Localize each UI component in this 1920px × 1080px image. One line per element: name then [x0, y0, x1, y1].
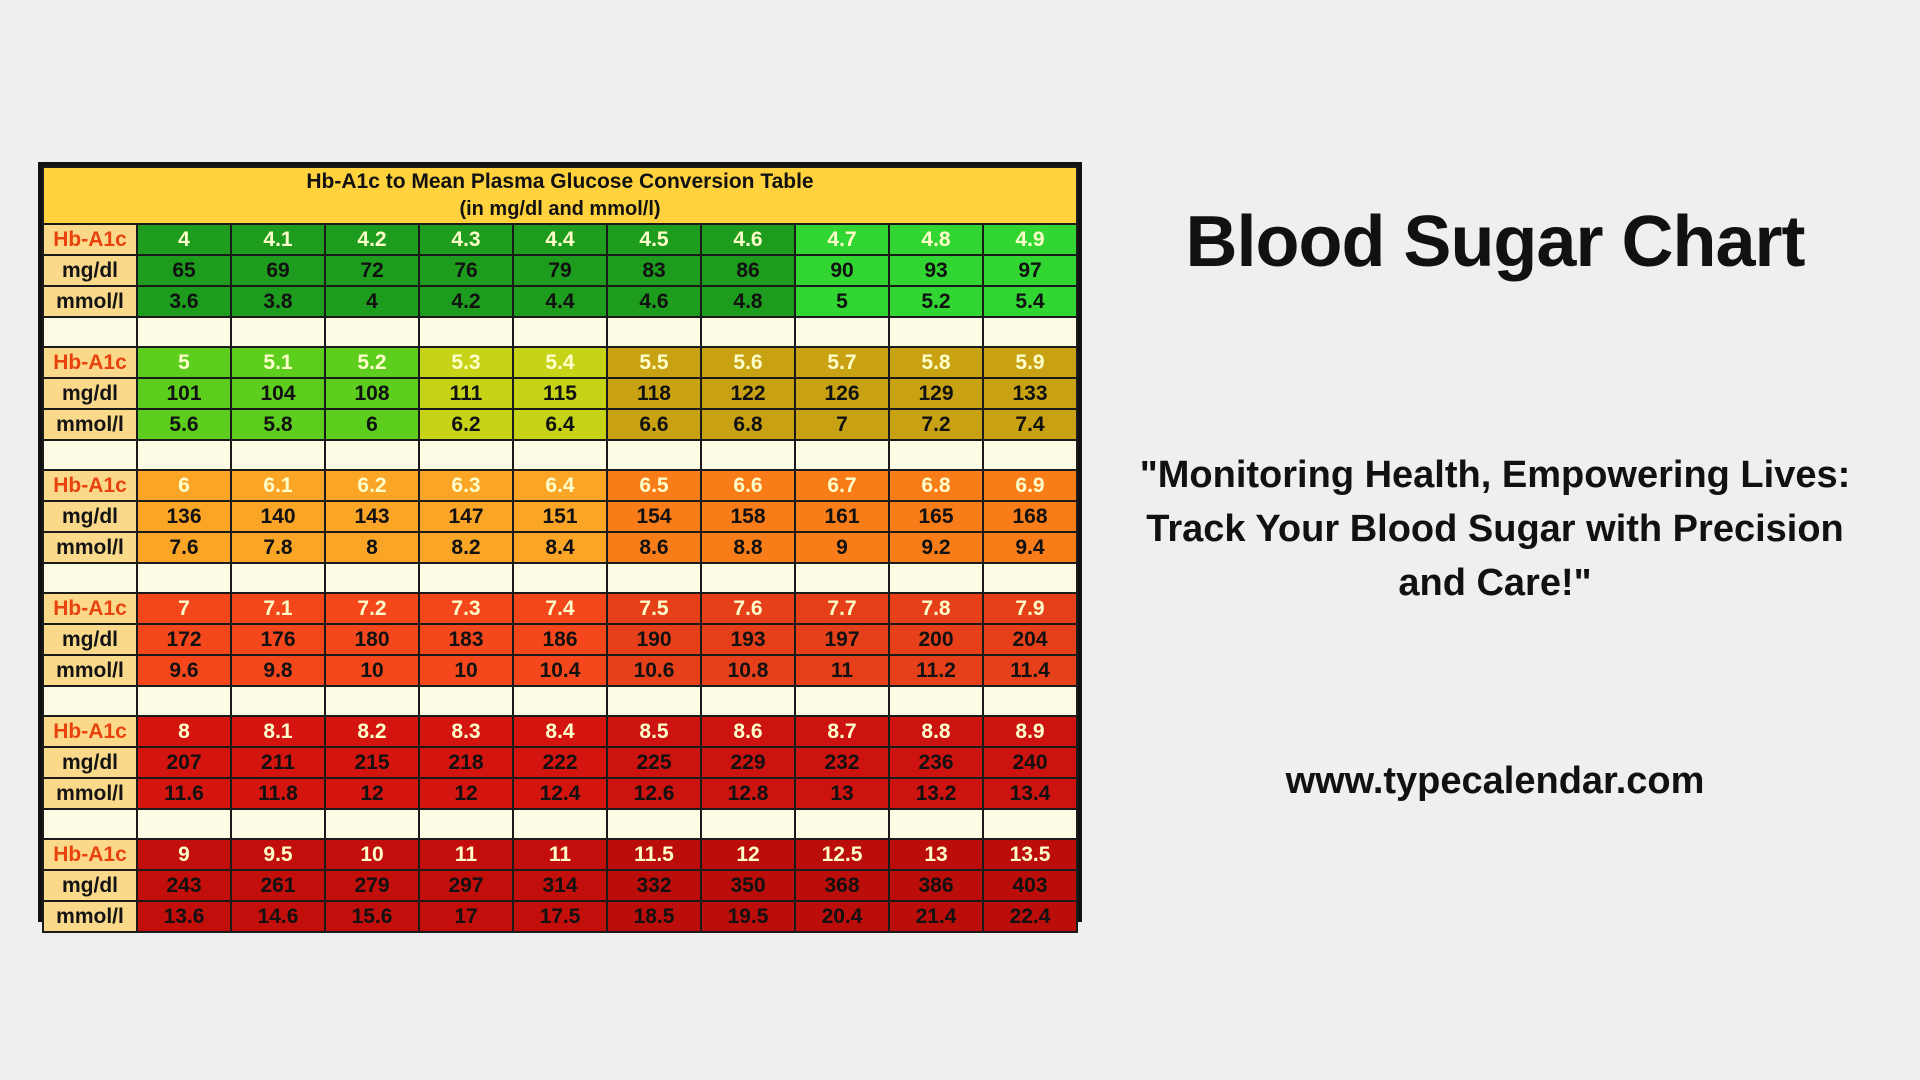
row-label-mgdl: mg/dl: [43, 747, 137, 778]
table-spacer-cell: [889, 440, 983, 470]
cell-a1c: 4: [137, 224, 231, 255]
cell-a1c: 8.8: [889, 716, 983, 747]
cell-mmol: 8.6: [607, 532, 701, 563]
cell-mgdl: 122: [701, 378, 795, 409]
table-spacer-cell: [889, 317, 983, 347]
cell-mmol: 11: [795, 655, 889, 686]
cell-mmol: 12: [325, 778, 419, 809]
table-spacer-cell: [513, 317, 607, 347]
conversion-table: Hb-A1c to Mean Plasma Glucose Conversion…: [42, 166, 1078, 933]
table-row: Hb-A1c88.18.28.38.48.58.68.78.88.9: [43, 716, 1077, 747]
table-spacer-cell: [983, 440, 1077, 470]
cell-a1c: 6.1: [231, 470, 325, 501]
row-label-mmol: mmol/l: [43, 655, 137, 686]
cell-a1c: 11: [419, 839, 513, 870]
table-row: Hb-A1c44.14.24.34.44.54.64.74.84.9: [43, 224, 1077, 255]
cell-mmol: 11.8: [231, 778, 325, 809]
cell-mgdl: 314: [513, 870, 607, 901]
table-spacer-cell: [231, 809, 325, 839]
table-row: mg/dl172176180183186190193197200204: [43, 624, 1077, 655]
cell-a1c: 4.8: [889, 224, 983, 255]
table-spacer-cell: [325, 809, 419, 839]
cell-mmol: 8.4: [513, 532, 607, 563]
row-label-mmol: mmol/l: [43, 901, 137, 932]
table-spacer-cell: [137, 440, 231, 470]
table-spacer-cell: [325, 317, 419, 347]
cell-mmol: 9.2: [889, 532, 983, 563]
cell-mgdl: 240: [983, 747, 1077, 778]
cell-mmol: 17: [419, 901, 513, 932]
cell-mmol: 10.8: [701, 655, 795, 686]
cell-mmol: 19.5: [701, 901, 795, 932]
cell-mgdl: 126: [795, 378, 889, 409]
cell-mgdl: 168: [983, 501, 1077, 532]
table-spacer-cell: [795, 440, 889, 470]
cell-mgdl: 118: [607, 378, 701, 409]
table-row: mmol/l5.65.866.26.46.66.877.27.4: [43, 409, 1077, 440]
cell-a1c: 5.1: [231, 347, 325, 378]
cell-a1c: 6: [137, 470, 231, 501]
cell-mgdl: 204: [983, 624, 1077, 655]
table-spacer-cell: [513, 809, 607, 839]
cell-mgdl: 386: [889, 870, 983, 901]
table-spacer-cell: [795, 809, 889, 839]
cell-a1c: 5.2: [325, 347, 419, 378]
cell-a1c: 9: [137, 839, 231, 870]
cell-a1c: 6.4: [513, 470, 607, 501]
table-spacer-cell: [231, 686, 325, 716]
cell-mgdl: 350: [701, 870, 795, 901]
right-panel: Blood Sugar Chart "Monitoring Health, Em…: [1090, 150, 1900, 841]
cell-mmol: 6.4: [513, 409, 607, 440]
table-spacer-cell: [795, 563, 889, 593]
cell-mgdl: 97: [983, 255, 1077, 286]
table-spacer-cell: [513, 440, 607, 470]
table-spacer-cell: [983, 317, 1077, 347]
cell-mmol: 22.4: [983, 901, 1077, 932]
cell-a1c: 5.4: [513, 347, 607, 378]
cell-mgdl: 133: [983, 378, 1077, 409]
cell-mmol: 21.4: [889, 901, 983, 932]
table-row: mg/dl65697276798386909397: [43, 255, 1077, 286]
cell-mgdl: 83: [607, 255, 701, 286]
cell-mgdl: 211: [231, 747, 325, 778]
cell-mgdl: 186: [513, 624, 607, 655]
cell-mmol: 13.6: [137, 901, 231, 932]
conversion-table-card: Hb-A1c to Mean Plasma Glucose Conversion…: [38, 162, 1082, 922]
cell-mgdl: 229: [701, 747, 795, 778]
cell-mmol: 14.6: [231, 901, 325, 932]
cell-mgdl: 104: [231, 378, 325, 409]
row-label-a1c: Hb-A1c: [43, 347, 137, 378]
cell-mmol: 8.2: [419, 532, 513, 563]
table-spacer-cell: [983, 809, 1077, 839]
cell-mmol: 6.8: [701, 409, 795, 440]
table-spacer-cell: [701, 809, 795, 839]
cell-mmol: 5: [795, 286, 889, 317]
table-spacer-cell: [419, 317, 513, 347]
cell-a1c: 8.5: [607, 716, 701, 747]
cell-mmol: 6: [325, 409, 419, 440]
table-spacer-cell: [607, 440, 701, 470]
cell-mmol: 4.4: [513, 286, 607, 317]
table-spacer-cell: [325, 686, 419, 716]
cell-mgdl: 108: [325, 378, 419, 409]
table-spacer-cell: [513, 563, 607, 593]
table-spacer-cell: [889, 563, 983, 593]
cell-mmol: 10: [419, 655, 513, 686]
conversion-table-body: Hb-A1c to Mean Plasma Glucose Conversion…: [43, 167, 1077, 932]
cell-mmol: 4.6: [607, 286, 701, 317]
table-spacer-cell: [795, 686, 889, 716]
table-spacer-cell: [43, 686, 137, 716]
cell-mgdl: 332: [607, 870, 701, 901]
table-spacer-cell: [607, 317, 701, 347]
cell-mgdl: 79: [513, 255, 607, 286]
table-spacer-cell: [419, 809, 513, 839]
table-row: Hb-A1c77.17.27.37.47.57.67.77.87.9: [43, 593, 1077, 624]
cell-a1c: 4.9: [983, 224, 1077, 255]
cell-a1c: 6.8: [889, 470, 983, 501]
page-title: Blood Sugar Chart: [1090, 205, 1900, 281]
cell-mgdl: 403: [983, 870, 1077, 901]
row-label-a1c: Hb-A1c: [43, 224, 137, 255]
cell-mmol: 9: [795, 532, 889, 563]
cell-a1c: 11.5: [607, 839, 701, 870]
cell-mmol: 7.6: [137, 532, 231, 563]
table-row: mmol/l11.611.8121212.412.612.81313.213.4: [43, 778, 1077, 809]
page-root: Hb-A1c to Mean Plasma Glucose Conversion…: [0, 0, 1920, 1080]
cell-a1c: 7.2: [325, 593, 419, 624]
row-label-mgdl: mg/dl: [43, 624, 137, 655]
cell-mmol: 9.4: [983, 532, 1077, 563]
cell-a1c: 4.4: [513, 224, 607, 255]
cell-a1c: 8.7: [795, 716, 889, 747]
table-spacer-cell: [701, 440, 795, 470]
table-subtitle: (in mg/dl and mmol/l): [44, 196, 1076, 223]
cell-mmol: 4.2: [419, 286, 513, 317]
cell-mgdl: 136: [137, 501, 231, 532]
cell-mgdl: 176: [231, 624, 325, 655]
cell-mmol: 8.8: [701, 532, 795, 563]
cell-mgdl: 93: [889, 255, 983, 286]
table-row: mmol/l9.69.8101010.410.610.81111.211.4: [43, 655, 1077, 686]
table-spacer-cell: [43, 563, 137, 593]
cell-a1c: 8.6: [701, 716, 795, 747]
table-spacer-cell: [231, 563, 325, 593]
cell-mgdl: 140: [231, 501, 325, 532]
cell-mmol: 3.6: [137, 286, 231, 317]
cell-a1c: 6.3: [419, 470, 513, 501]
table-spacer-row: [43, 440, 1077, 470]
cell-mgdl: 222: [513, 747, 607, 778]
cell-mmol: 7.8: [231, 532, 325, 563]
table-spacer-cell: [43, 440, 137, 470]
table-spacer-row: [43, 809, 1077, 839]
cell-mgdl: 154: [607, 501, 701, 532]
cell-a1c: 13.5: [983, 839, 1077, 870]
table-title: Hb-A1c to Mean Plasma Glucose Conversion…: [306, 170, 813, 193]
row-label-mmol: mmol/l: [43, 532, 137, 563]
cell-a1c: 8.3: [419, 716, 513, 747]
cell-a1c: 8.1: [231, 716, 325, 747]
cell-a1c: 5.7: [795, 347, 889, 378]
tagline-quote: "Monitoring Health, Empowering Lives: Tr…: [1108, 449, 1882, 611]
cell-mgdl: 129: [889, 378, 983, 409]
cell-a1c: 6.9: [983, 470, 1077, 501]
cell-a1c: 4.2: [325, 224, 419, 255]
table-spacer-cell: [889, 686, 983, 716]
cell-a1c: 8.9: [983, 716, 1077, 747]
cell-mmol: 12.6: [607, 778, 701, 809]
cell-a1c: 6.7: [795, 470, 889, 501]
cell-mgdl: 86: [701, 255, 795, 286]
cell-a1c: 8.4: [513, 716, 607, 747]
cell-a1c: 9.5: [231, 839, 325, 870]
cell-mmol: 15.6: [325, 901, 419, 932]
cell-mgdl: 111: [419, 378, 513, 409]
cell-a1c: 5.3: [419, 347, 513, 378]
cell-a1c: 13: [889, 839, 983, 870]
row-label-a1c: Hb-A1c: [43, 839, 137, 870]
table-spacer-row: [43, 563, 1077, 593]
cell-mgdl: 279: [325, 870, 419, 901]
cell-a1c: 8: [137, 716, 231, 747]
cell-a1c: 7.1: [231, 593, 325, 624]
cell-a1c: 4.5: [607, 224, 701, 255]
cell-mgdl: 172: [137, 624, 231, 655]
cell-mgdl: 101: [137, 378, 231, 409]
cell-a1c: 7: [137, 593, 231, 624]
cell-mgdl: 69: [231, 255, 325, 286]
cell-mgdl: 147: [419, 501, 513, 532]
table-title-cell: Hb-A1c to Mean Plasma Glucose Conversion…: [43, 167, 1077, 224]
table-row: mmol/l13.614.615.61717.518.519.520.421.4…: [43, 901, 1077, 932]
cell-mgdl: 190: [607, 624, 701, 655]
table-spacer-cell: [137, 686, 231, 716]
cell-mmol: 5.4: [983, 286, 1077, 317]
table-spacer-cell: [983, 563, 1077, 593]
cell-mmol: 3.8: [231, 286, 325, 317]
table-spacer-cell: [419, 440, 513, 470]
cell-mgdl: 76: [419, 255, 513, 286]
cell-mmol: 6.2: [419, 409, 513, 440]
table-row: mg/dl101104108111115118122126129133: [43, 378, 1077, 409]
row-label-mgdl: mg/dl: [43, 870, 137, 901]
row-label-a1c: Hb-A1c: [43, 470, 137, 501]
cell-mmol: 11.2: [889, 655, 983, 686]
table-spacer-cell: [419, 563, 513, 593]
table-spacer-cell: [607, 563, 701, 593]
table-spacer-cell: [137, 809, 231, 839]
table-spacer-cell: [701, 317, 795, 347]
table-spacer-cell: [231, 440, 325, 470]
table-spacer-cell: [889, 809, 983, 839]
row-label-mgdl: mg/dl: [43, 255, 137, 286]
cell-mmol: 11.6: [137, 778, 231, 809]
cell-mmol: 13: [795, 778, 889, 809]
table-spacer-cell: [701, 563, 795, 593]
cell-mgdl: 161: [795, 501, 889, 532]
cell-mmol: 12: [419, 778, 513, 809]
cell-mmol: 7.4: [983, 409, 1077, 440]
cell-a1c: 12.5: [795, 839, 889, 870]
cell-a1c: 7.5: [607, 593, 701, 624]
cell-mmol: 12.4: [513, 778, 607, 809]
cell-a1c: 4.3: [419, 224, 513, 255]
cell-mgdl: 368: [795, 870, 889, 901]
row-label-mgdl: mg/dl: [43, 378, 137, 409]
row-label-mmol: mmol/l: [43, 409, 137, 440]
table-row: Hb-A1c66.16.26.36.46.56.66.76.86.9: [43, 470, 1077, 501]
table-spacer-cell: [325, 440, 419, 470]
cell-a1c: 7.9: [983, 593, 1077, 624]
cell-mgdl: 232: [795, 747, 889, 778]
cell-mgdl: 115: [513, 378, 607, 409]
cell-mgdl: 225: [607, 747, 701, 778]
cell-mgdl: 180: [325, 624, 419, 655]
table-spacer-cell: [137, 563, 231, 593]
table-row: mmol/l7.67.888.28.48.68.899.29.4: [43, 532, 1077, 563]
table-spacer-cell: [701, 686, 795, 716]
table-spacer-cell: [137, 317, 231, 347]
table-row: mmol/l3.63.844.24.44.64.855.25.4: [43, 286, 1077, 317]
cell-mgdl: 200: [889, 624, 983, 655]
cell-mmol: 11.4: [983, 655, 1077, 686]
cell-mgdl: 72: [325, 255, 419, 286]
table-spacer-cell: [231, 317, 325, 347]
cell-a1c: 6.6: [701, 470, 795, 501]
cell-mgdl: 215: [325, 747, 419, 778]
cell-a1c: 5.8: [889, 347, 983, 378]
cell-mgdl: 65: [137, 255, 231, 286]
cell-mgdl: 218: [419, 747, 513, 778]
cell-mmol: 12.8: [701, 778, 795, 809]
cell-mgdl: 165: [889, 501, 983, 532]
cell-mgdl: 90: [795, 255, 889, 286]
cell-mmol: 8: [325, 532, 419, 563]
cell-mmol: 7: [795, 409, 889, 440]
cell-a1c: 7.4: [513, 593, 607, 624]
cell-a1c: 4.7: [795, 224, 889, 255]
row-label-mgdl: mg/dl: [43, 501, 137, 532]
cell-mgdl: 183: [419, 624, 513, 655]
table-row: mg/dl207211215218222225229232236240: [43, 747, 1077, 778]
cell-a1c: 4.1: [231, 224, 325, 255]
cell-a1c: 11: [513, 839, 607, 870]
cell-mgdl: 151: [513, 501, 607, 532]
cell-a1c: 5: [137, 347, 231, 378]
cell-mgdl: 158: [701, 501, 795, 532]
cell-mmol: 5.2: [889, 286, 983, 317]
cell-mmol: 9.8: [231, 655, 325, 686]
table-spacer-cell: [43, 317, 137, 347]
cell-a1c: 7.6: [701, 593, 795, 624]
cell-a1c: 5.5: [607, 347, 701, 378]
cell-a1c: 7.3: [419, 593, 513, 624]
table-spacer-cell: [325, 563, 419, 593]
table-spacer-cell: [419, 686, 513, 716]
cell-mmol: 6.6: [607, 409, 701, 440]
cell-mmol: 10.4: [513, 655, 607, 686]
cell-mmol: 5.8: [231, 409, 325, 440]
cell-a1c: 6.2: [325, 470, 419, 501]
table-spacer-row: [43, 317, 1077, 347]
cell-mmol: 20.4: [795, 901, 889, 932]
table-row: mg/dl136140143147151154158161165168: [43, 501, 1077, 532]
cell-mmol: 13.2: [889, 778, 983, 809]
cell-mmol: 17.5: [513, 901, 607, 932]
table-row: mg/dl243261279297314332350368386403: [43, 870, 1077, 901]
table-row: Hb-A1c99.510111111.51212.51313.5: [43, 839, 1077, 870]
cell-a1c: 4.6: [701, 224, 795, 255]
cell-mmol: 13.4: [983, 778, 1077, 809]
cell-mmol: 18.5: [607, 901, 701, 932]
cell-a1c: 8.2: [325, 716, 419, 747]
cell-a1c: 10: [325, 839, 419, 870]
table-spacer-cell: [607, 809, 701, 839]
table-spacer-cell: [983, 686, 1077, 716]
table-row: Hb-A1c55.15.25.35.45.55.65.75.85.9: [43, 347, 1077, 378]
row-label-mmol: mmol/l: [43, 286, 137, 317]
cell-mmol: 4.8: [701, 286, 795, 317]
cell-a1c: 5.9: [983, 347, 1077, 378]
cell-mmol: 4: [325, 286, 419, 317]
row-label-a1c: Hb-A1c: [43, 716, 137, 747]
cell-mgdl: 261: [231, 870, 325, 901]
cell-a1c: 7.8: [889, 593, 983, 624]
table-spacer-cell: [795, 317, 889, 347]
table-spacer-cell: [607, 686, 701, 716]
cell-mmol: 5.6: [137, 409, 231, 440]
table-spacer-cell: [513, 686, 607, 716]
cell-mgdl: 207: [137, 747, 231, 778]
cell-mmol: 9.6: [137, 655, 231, 686]
cell-a1c: 6.5: [607, 470, 701, 501]
row-label-mmol: mmol/l: [43, 778, 137, 809]
cell-mgdl: 243: [137, 870, 231, 901]
cell-mgdl: 143: [325, 501, 419, 532]
cell-mmol: 7.2: [889, 409, 983, 440]
table-spacer-cell: [43, 809, 137, 839]
cell-mgdl: 297: [419, 870, 513, 901]
cell-a1c: 12: [701, 839, 795, 870]
table-title-row: Hb-A1c to Mean Plasma Glucose Conversion…: [43, 167, 1077, 224]
cell-a1c: 7.7: [795, 593, 889, 624]
cell-mgdl: 193: [701, 624, 795, 655]
row-label-a1c: Hb-A1c: [43, 593, 137, 624]
website-url: www.typecalendar.com: [1090, 760, 1900, 803]
cell-a1c: 5.6: [701, 347, 795, 378]
cell-mmol: 10: [325, 655, 419, 686]
cell-mgdl: 236: [889, 747, 983, 778]
cell-mmol: 10.6: [607, 655, 701, 686]
table-spacer-row: [43, 686, 1077, 716]
cell-mgdl: 197: [795, 624, 889, 655]
